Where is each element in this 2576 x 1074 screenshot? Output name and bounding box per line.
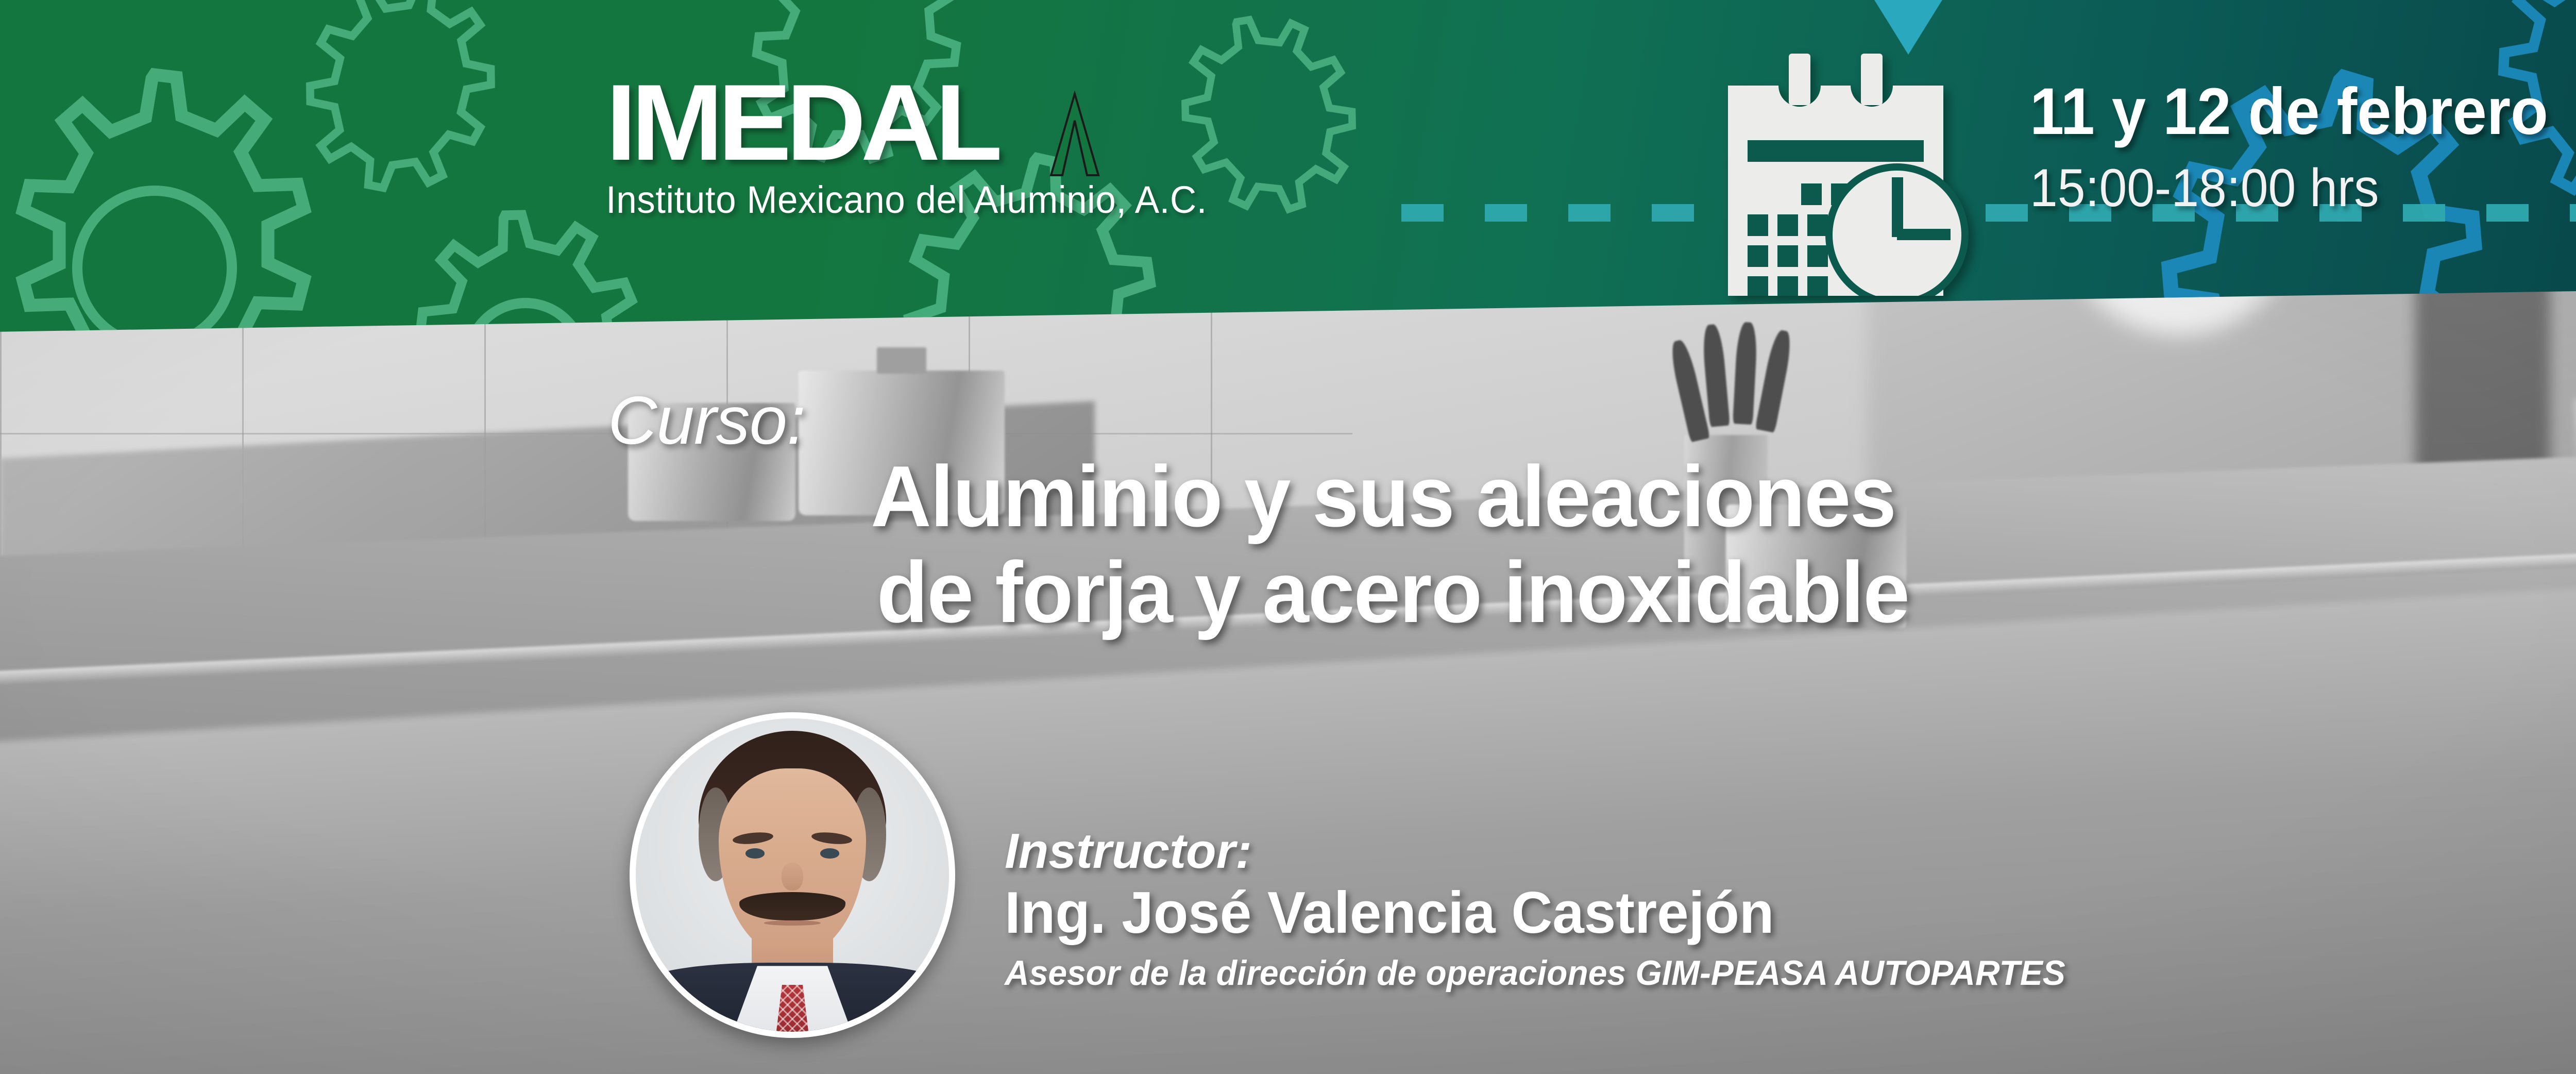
logo-tagline: Instituto Mexicano del Aluminio, A.C.	[606, 178, 1298, 222]
avatar-eye	[820, 848, 840, 858]
instructor-avatar	[630, 712, 955, 1038]
avatar-eye	[745, 848, 765, 858]
chevron-down-icon	[1866, 0, 1951, 55]
instructor-info: Instructor: Ing. José Valencia Castrejón…	[1005, 825, 2098, 993]
avatar-mouth	[764, 920, 820, 926]
avatar-mustache	[739, 892, 846, 920]
imedal-logo[interactable]: IMEDAL ® Instituto Mexicano del Aluminio…	[606, 76, 1327, 222]
course-title-line-1: Aluminio y sus aleaciones	[871, 448, 2420, 544]
instructor-role: Asesor de la dirección de operaciones GI…	[1005, 953, 2065, 993]
course-title-line-2: de forja y acero inoxidable	[871, 544, 2420, 640]
calendar-clock-icon	[1710, 54, 1999, 296]
course-promo-banner: IMEDAL ® Instituto Mexicano del Aluminio…	[0, 0, 2576, 1074]
course-title: Aluminio y sus aleaciones de forja y ace…	[871, 448, 2420, 641]
event-time: 15:00-18:00 hrs	[2030, 158, 2548, 219]
schedule-block: 11 y 12 de febrero 15:00-18:00 hrs	[2030, 77, 2576, 219]
course-label: Curso:	[608, 381, 805, 459]
logo-wordmark: IMEDAL	[606, 76, 1342, 170]
instructor-label: Instructor:	[1005, 825, 2098, 878]
event-date: 11 y 12 de febrero	[2030, 77, 2548, 146]
instructor-name: Ing. José Valencia Castrejón	[1005, 882, 2065, 945]
avatar-nose	[782, 863, 804, 891]
